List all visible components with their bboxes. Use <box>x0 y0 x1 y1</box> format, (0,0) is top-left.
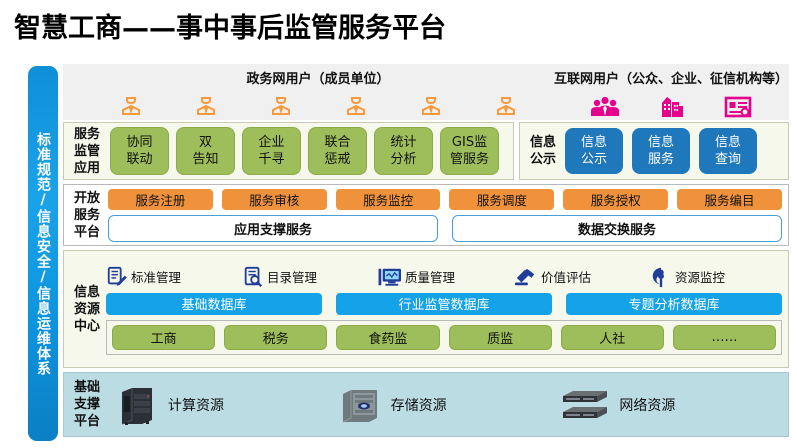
app-label-line2: 告知 <box>192 151 218 168</box>
resource-tools-row: 标准管理 目录管理 质量管理 <box>106 264 782 290</box>
app-label-line2: 分析 <box>390 151 416 168</box>
database-thematic-analysis[interactable]: 专题分析数据库 <box>566 293 782 315</box>
app-button-xietong-liandong[interactable]: 协同 联动 <box>110 127 169 175</box>
database-industry-supervision[interactable]: 行业监管数据库 <box>336 293 552 315</box>
gov-users-group: 政务网用户（成员单位） <box>93 64 543 120</box>
app-button-shuanggaozhi[interactable]: 双 告知 <box>176 127 235 175</box>
diagram-content: 政务网用户（成员单位） <box>63 64 789 444</box>
infrastructure-items: 计算资源 存储资源 网络资源 <box>114 382 782 428</box>
disclosure-button-chaxun[interactable]: 信息 查询 <box>699 128 757 174</box>
resource-center-body: 标准管理 目录管理 质量管理 <box>106 264 782 355</box>
document-pen-icon <box>106 266 128 288</box>
disclosure-button-gongshi[interactable]: 信息 公示 <box>565 128 623 174</box>
department-more[interactable]: …… <box>673 325 776 350</box>
disclosure-button-fuwu[interactable]: 信息 服务 <box>632 128 690 174</box>
resource-tool-label: 价值评估 <box>541 267 591 286</box>
disclosure-label-line2: 公示 <box>581 151 607 168</box>
app-label-line1: 联合 <box>324 134 350 151</box>
department-gongshang[interactable]: 工商 <box>112 325 215 350</box>
government-user-icon <box>118 93 144 119</box>
layer-label-resource-center: 信息资源中心 <box>70 284 104 335</box>
service-button-schedule[interactable]: 服务调度 <box>449 189 554 210</box>
internet-users-group: 互联网用户（公众、企业、征信机构等） <box>553 64 789 120</box>
government-user-icon <box>193 93 219 119</box>
app-button-qiye-qianxun[interactable]: 企业 千寻 <box>242 127 301 175</box>
id-card-icon <box>724 95 752 119</box>
infrastructure-item-label: 网络资源 <box>619 395 675 415</box>
resource-departments-row: 工商 税务 食药监 质监 人社 …… <box>106 320 782 355</box>
layer-label-infrastructure: 基础支撑平台 <box>70 379 104 430</box>
building-icon <box>659 95 685 119</box>
infrastructure-item-network: 网络资源 <box>559 382 782 428</box>
resource-databases-row: 基础数据库 行业监管数据库 专题分析数据库 <box>106 293 782 315</box>
app-label-line1: GIS监 <box>452 134 487 151</box>
department-shiyaojian[interactable]: 食药监 <box>336 325 439 350</box>
app-label-line1: 双 <box>199 134 212 151</box>
open-platform-supports: 应用支撑服务 数据交换服务 <box>108 215 782 242</box>
government-user-icon <box>493 93 519 119</box>
government-user-icon <box>343 93 369 119</box>
government-user-icon <box>418 93 444 119</box>
government-user-icon <box>268 93 294 119</box>
infrastructure-item-compute: 计算资源 <box>114 382 337 428</box>
resource-tool-label: 资源监控 <box>675 267 725 286</box>
internet-users-caption: 互联网用户（公众、企业、征信机构等） <box>553 64 789 87</box>
diagram-page: 智慧工商——事中事后监管服务平台 标准规范/信息安全/信息运维体系 政务网用户（… <box>0 0 797 448</box>
app-label-line2: 联动 <box>126 151 152 168</box>
layer-information-disclosure: 信息公示 信息 公示 信息 服务 信息 查询 <box>519 122 789 180</box>
disclosure-label-line1: 信息 <box>648 134 674 151</box>
app-button-tongji-fenxi[interactable]: 统计 分析 <box>374 127 433 175</box>
page-title: 智慧工商——事中事后监管服务平台 <box>14 12 446 46</box>
support-box-application[interactable]: 应用支撑服务 <box>108 215 438 242</box>
disclosure-label-line2: 查询 <box>715 151 741 168</box>
disclosure-list: 信息 公示 信息 服务 信息 查询 <box>565 128 757 174</box>
department-zhijian[interactable]: 质监 <box>449 325 552 350</box>
users-strip: 政务网用户（成员单位） <box>63 64 789 120</box>
open-platform-services: 服务注册 服务审核 服务监控 服务调度 服务授权 服务编目 <box>108 189 782 210</box>
monitor-chart-icon <box>378 266 402 288</box>
open-platform-body: 服务注册 服务审核 服务监控 服务调度 服务授权 服务编目 应用支撑服务 数据交… <box>108 189 782 242</box>
storage-array-icon <box>337 382 383 428</box>
app-button-lianhe-chengjie[interactable]: 联合 惩戒 <box>308 127 367 175</box>
resource-tool-resource-monitor[interactable]: 资源监控 <box>650 266 782 288</box>
service-button-review[interactable]: 服务审核 <box>222 189 327 210</box>
internet-users-icon-row <box>553 89 789 119</box>
layer-open-service-platform: 开放服务平台 服务注册 服务审核 服务监控 服务调度 服务授权 服务编目 应用支… <box>63 184 789 246</box>
layer-infrastructure-platform: 基础支撑平台 计算资源 存储资源 <box>63 372 789 437</box>
department-rensche[interactable]: 人社 <box>561 325 664 350</box>
document-search-icon <box>242 266 264 288</box>
resource-tool-standard-management[interactable]: 标准管理 <box>106 266 238 288</box>
service-button-register[interactable]: 服务注册 <box>108 189 213 210</box>
app-label-line2: 千寻 <box>258 151 284 168</box>
infrastructure-item-storage: 存储资源 <box>337 382 560 428</box>
disclosure-label-line2: 服务 <box>648 151 674 168</box>
people-group-icon <box>590 95 620 119</box>
gov-users-icon-row <box>93 89 543 119</box>
disclosure-label-line1: 信息 <box>715 134 741 151</box>
app-label-line1: 统计 <box>390 134 416 151</box>
layer-service-supervision-apps: 服务监管应用 协同 联动 双 告知 企业 千寻 联合 惩戒 <box>63 122 514 180</box>
database-basic[interactable]: 基础数据库 <box>106 293 322 315</box>
infrastructure-item-label: 存储资源 <box>391 395 447 415</box>
app-label-line2: 惩戒 <box>324 151 350 168</box>
layer-label-disclosure: 信息公示 <box>526 134 560 168</box>
app-button-gis-supervision[interactable]: GIS监 管服务 <box>440 127 499 175</box>
resource-tool-quality-management[interactable]: 质量管理 <box>378 266 510 288</box>
network-switch-icon <box>559 382 611 428</box>
magnifier-swirl-icon <box>650 266 672 288</box>
gavel-icon <box>514 266 538 288</box>
resource-tool-label: 目录管理 <box>267 267 317 286</box>
server-tower-icon <box>114 382 160 428</box>
resource-tool-value-assessment[interactable]: 价值评估 <box>514 266 646 288</box>
service-button-catalog[interactable]: 服务编目 <box>677 189 782 210</box>
resource-tool-label: 质量管理 <box>405 267 455 286</box>
infrastructure-item-label: 计算资源 <box>168 395 224 415</box>
app-label-line1: 协同 <box>126 134 152 151</box>
sidebar-label: 标准规范/信息安全/信息运维体系 <box>33 132 53 376</box>
service-button-authorize[interactable]: 服务授权 <box>563 189 668 210</box>
resource-tool-label: 标准管理 <box>131 267 181 286</box>
support-box-data-exchange[interactable]: 数据交换服务 <box>452 215 782 242</box>
sidebar-standards-security-ops: 标准规范/信息安全/信息运维体系 <box>28 66 58 441</box>
layer-label-open-platform: 开放服务平台 <box>70 190 104 241</box>
disclosure-label-line1: 信息 <box>581 134 607 151</box>
resource-tool-catalog-management[interactable]: 目录管理 <box>242 266 374 288</box>
app-label-line1: 企业 <box>258 134 284 151</box>
gov-users-caption: 政务网用户（成员单位） <box>93 64 543 87</box>
app-label-line2: 管服务 <box>450 151 489 168</box>
service-button-monitor[interactable]: 服务监控 <box>336 189 441 210</box>
layer-information-resource-center: 信息资源中心 标准管理 目录管理 <box>63 250 789 368</box>
service-apps-list: 协同 联动 双 告知 企业 千寻 联合 惩戒 统计 分析 <box>110 127 499 175</box>
department-shuiwu[interactable]: 税务 <box>224 325 327 350</box>
layer-label-service-apps: 服务监管应用 <box>70 126 104 177</box>
